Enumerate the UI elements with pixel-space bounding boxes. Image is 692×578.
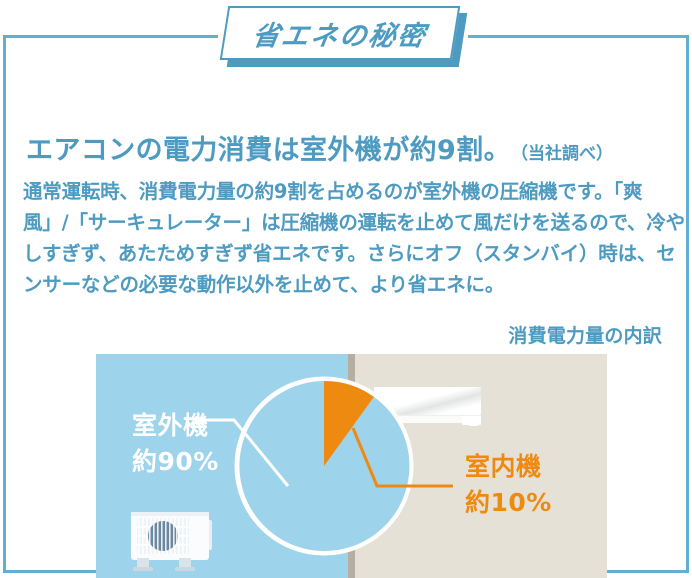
page-title: エアコンの電力消費は室外機が約9割。（当社調べ） <box>26 128 686 167</box>
label-indoor-value: 約10% <box>465 485 552 521</box>
headline-source-note: （当社調べ） <box>511 139 613 164</box>
ribbon-banner: 省エネの秘密 <box>222 4 470 74</box>
label-outdoor: 室外機 約90% <box>132 408 219 480</box>
chart-caption: 消費電力量の内訳 <box>508 321 662 348</box>
label-indoor-name: 室内機 <box>465 449 552 485</box>
body-copy: 通常運転時、消費電力量の約9割を占めるのが室外機の圧縮機です。「爽風」/「サーキ… <box>23 176 685 300</box>
label-outdoor-name: 室外機 <box>132 408 219 444</box>
label-outdoor-value: 約90% <box>132 444 219 480</box>
headline-main: エアコンの電力消費は室外機が約9割。 <box>26 128 511 167</box>
chart-panel: 室外機 約90% 室内機 約10% <box>96 354 607 578</box>
label-indoor: 室内機 約10% <box>465 449 552 521</box>
ribbon-label: 省エネの秘密 <box>220 6 461 60</box>
info-card: エアコンの電力消費は室外機が約9割。（当社調べ） 通常運転時、消費電力量の約9割… <box>3 35 689 573</box>
body-paragraph: 通常運転時、消費電力量の約9割を占めるのが室外機の圧縮機です。「爽風」/「サーキ… <box>23 176 685 300</box>
